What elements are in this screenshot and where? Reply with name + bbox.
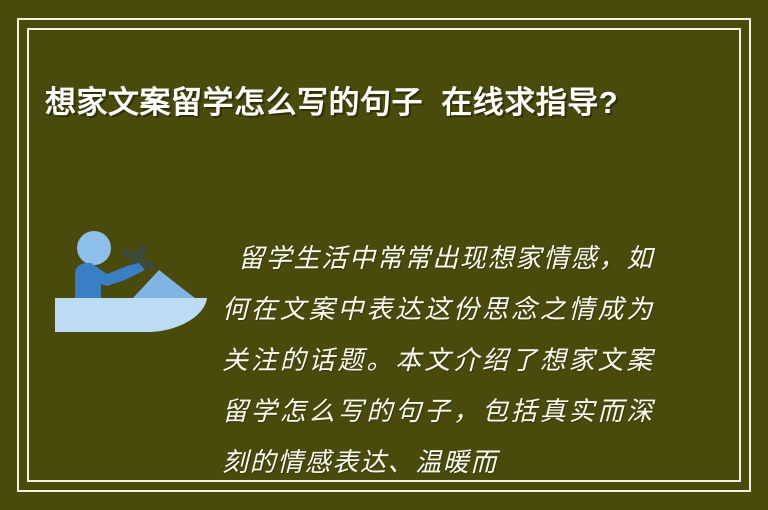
article-card: 想家文案留学怎么写的句子 在线求指导? 留学生活中常常出现想家情感，如何在文案中… <box>0 0 768 510</box>
boat-hull-shape <box>55 298 207 332</box>
rower-body-shape <box>75 263 145 298</box>
boat-deck-shape <box>133 270 195 298</box>
person-rowing-boat-icon <box>55 222 210 340</box>
rower-head-shape <box>77 231 111 265</box>
page-title: 想家文案留学怎么写的句子 在线求指导? <box>45 79 685 127</box>
article-summary-text: 留学生活中常常出现想家情感，如何在文案中表达这份思念之情成为关注的话题。本文介绍… <box>222 234 654 489</box>
